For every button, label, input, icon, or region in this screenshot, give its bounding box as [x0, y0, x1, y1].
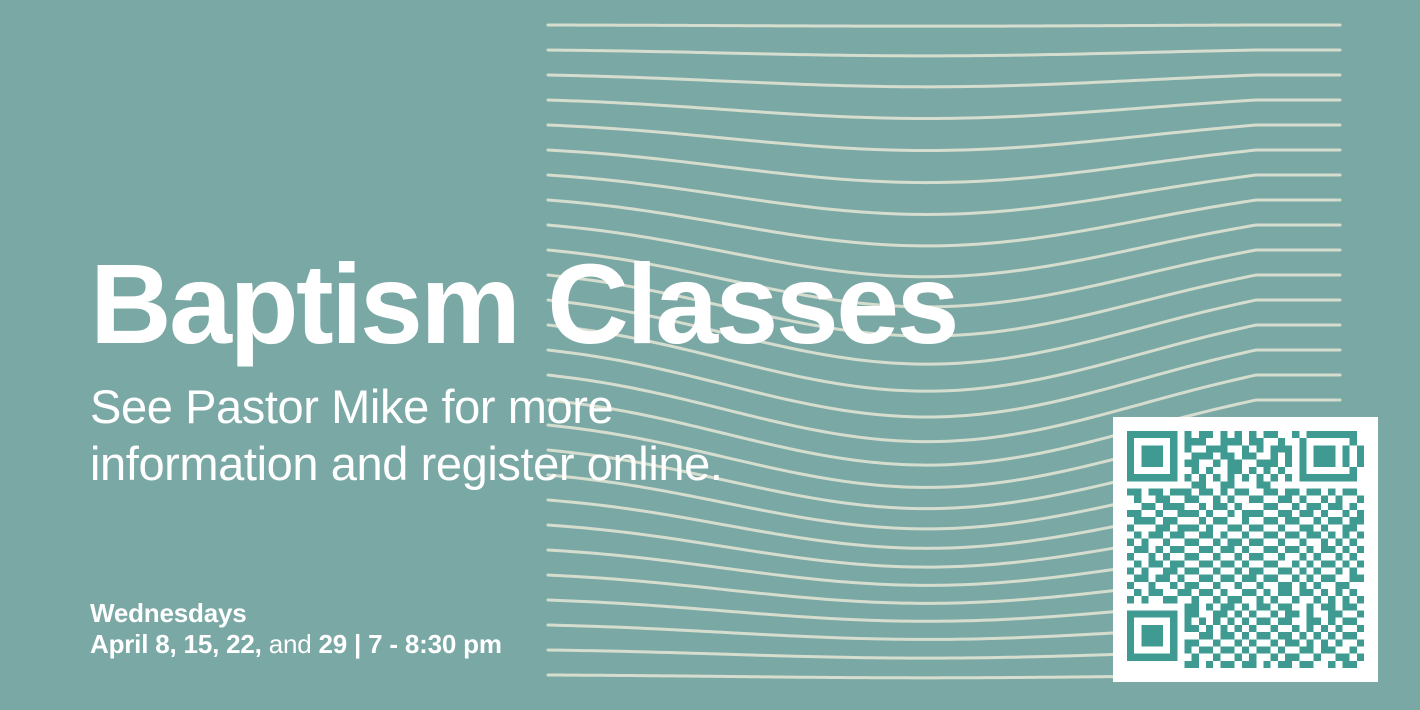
schedule-last-date-time: 29 | 7 - 8:30 pm — [319, 629, 502, 659]
baptism-classes-banner: Baptism Classes See Pastor Mike for more… — [0, 0, 1420, 710]
qr-code-card[interactable] — [1113, 417, 1378, 682]
subtitle-text: See Pastor Mike for more information and… — [90, 378, 723, 492]
qr-code-icon[interactable] — [1127, 431, 1364, 668]
schedule-dates: April 8, 15, 22, — [90, 629, 262, 659]
page-title: Baptism Classes — [90, 248, 957, 361]
schedule-text: Wednesdays April 8, 15, 22, and 29 | 7 -… — [90, 598, 502, 660]
schedule-connector: and — [262, 629, 319, 659]
schedule-day: Wednesdays — [90, 598, 502, 629]
schedule-dates-times: April 8, 15, 22, and 29 | 7 - 8:30 pm — [90, 629, 502, 660]
